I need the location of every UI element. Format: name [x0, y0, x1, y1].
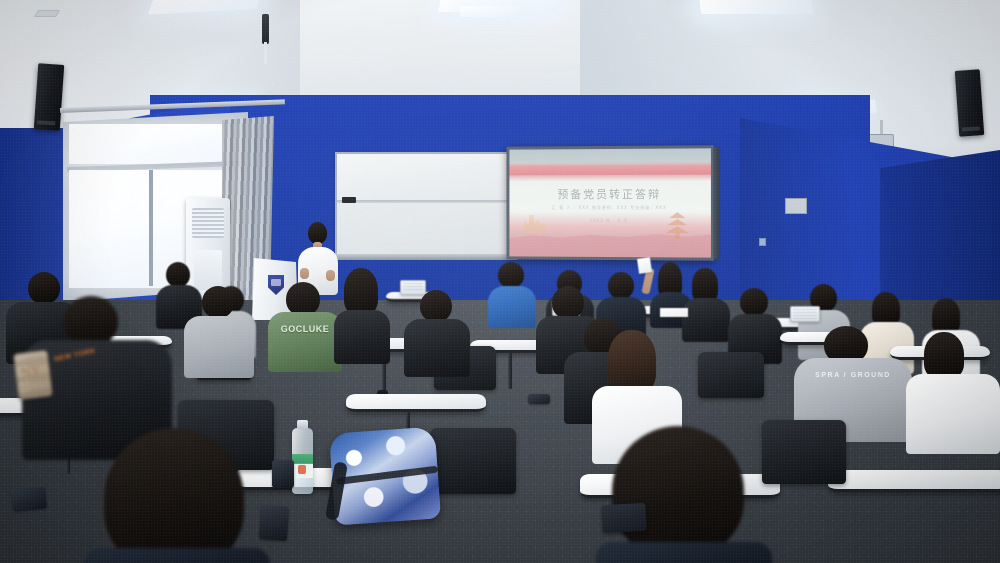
ceiling-pendant-tail	[264, 42, 267, 64]
ceiling-vent-2	[34, 10, 60, 17]
screen-side-bezel	[713, 147, 719, 258]
tablet[interactable]	[601, 503, 646, 533]
chair-front-right[interactable]	[762, 420, 846, 484]
wall-control-panel[interactable]	[785, 198, 807, 214]
head	[498, 262, 524, 288]
presentation-slide: 预备党员转正答辩 汇 报 人 ：XXX 指导老师：XXX 专业班级：XXX 20…	[509, 148, 711, 257]
torso	[488, 286, 536, 328]
desk-front-center-2	[346, 394, 486, 412]
head	[286, 282, 320, 316]
ceiling-light-3	[699, 0, 814, 14]
ny-monogram-bag: NY	[13, 350, 52, 400]
head brown	[608, 330, 656, 392]
held-paper	[637, 257, 652, 274]
papers-desk-right[interactable]	[660, 308, 688, 317]
bottle-label	[292, 454, 313, 478]
water-bottle[interactable]	[292, 428, 313, 494]
ny-logo: NY	[20, 364, 36, 384]
desk-leg	[508, 353, 512, 389]
great-wall-icon	[521, 213, 546, 235]
smartphone-desk-front[interactable]	[528, 394, 550, 404]
head	[924, 332, 964, 378]
torso	[404, 319, 470, 377]
torso	[334, 310, 390, 364]
torso	[906, 374, 1000, 454]
head	[202, 286, 234, 318]
torso: GOCLUKE	[268, 312, 342, 372]
torso	[682, 298, 730, 342]
head	[692, 268, 718, 302]
ac-grill	[192, 208, 224, 238]
speaker-left	[34, 63, 65, 131]
head	[872, 292, 900, 326]
head	[166, 262, 190, 287]
torso	[184, 316, 254, 378]
smartphone-mid[interactable]	[259, 505, 289, 541]
desk-right-front-2	[828, 470, 1000, 492]
presenter-hand-right	[326, 270, 335, 281]
smartphone-right[interactable]	[272, 460, 294, 488]
head	[28, 272, 60, 304]
head	[104, 428, 244, 563]
head	[64, 296, 118, 346]
shirt-text-spra-ground: SPRA / GROUND	[794, 372, 912, 379]
presenter-hand-left	[300, 268, 309, 279]
wall-switch-plate[interactable]	[759, 238, 766, 246]
head	[344, 268, 378, 314]
chair-mid-3[interactable]	[698, 352, 764, 398]
backpack-seam	[336, 466, 438, 485]
ceiling-light-6	[460, 6, 520, 17]
classroom-photo: 预备党员转正答辩 汇 报 人 ：XXX 指导老师：XXX 专业班级：XXX 20…	[0, 0, 1000, 563]
window-pane-top	[69, 124, 241, 164]
whiteboard-marker[interactable]	[342, 197, 356, 203]
head	[932, 298, 960, 334]
whiteboard-split	[337, 200, 511, 203]
head	[740, 288, 768, 316]
laptop-1[interactable]	[400, 280, 426, 295]
smartphone-left[interactable]	[11, 486, 47, 511]
window-mullion-v	[149, 170, 153, 286]
head	[552, 286, 584, 319]
chair-front-center[interactable]	[430, 428, 516, 494]
torso	[84, 548, 270, 563]
slide-title: 预备党员转正答辩	[509, 186, 711, 202]
speaker-right	[955, 69, 985, 137]
whiteboard-tray	[335, 254, 517, 260]
laptop-3[interactable]	[790, 306, 820, 322]
temple-of-heaven-icon	[662, 210, 692, 240]
head	[608, 272, 634, 299]
torso	[596, 542, 772, 563]
ceiling-pendant	[262, 14, 269, 44]
head	[612, 426, 744, 556]
head	[420, 290, 452, 322]
presenter-head	[308, 222, 327, 244]
shirt-text-goclu: GOCLUKE	[268, 324, 342, 334]
bottle-cap	[297, 420, 308, 429]
ac-control-panel[interactable]	[194, 250, 222, 290]
slide-top-band	[509, 165, 711, 175]
whiteboard	[335, 152, 513, 256]
projection-screen: 预备党员转正答辩 汇 报 人 ：XXX 指导老师：XXX 专业班级：XXX 20…	[506, 145, 714, 260]
